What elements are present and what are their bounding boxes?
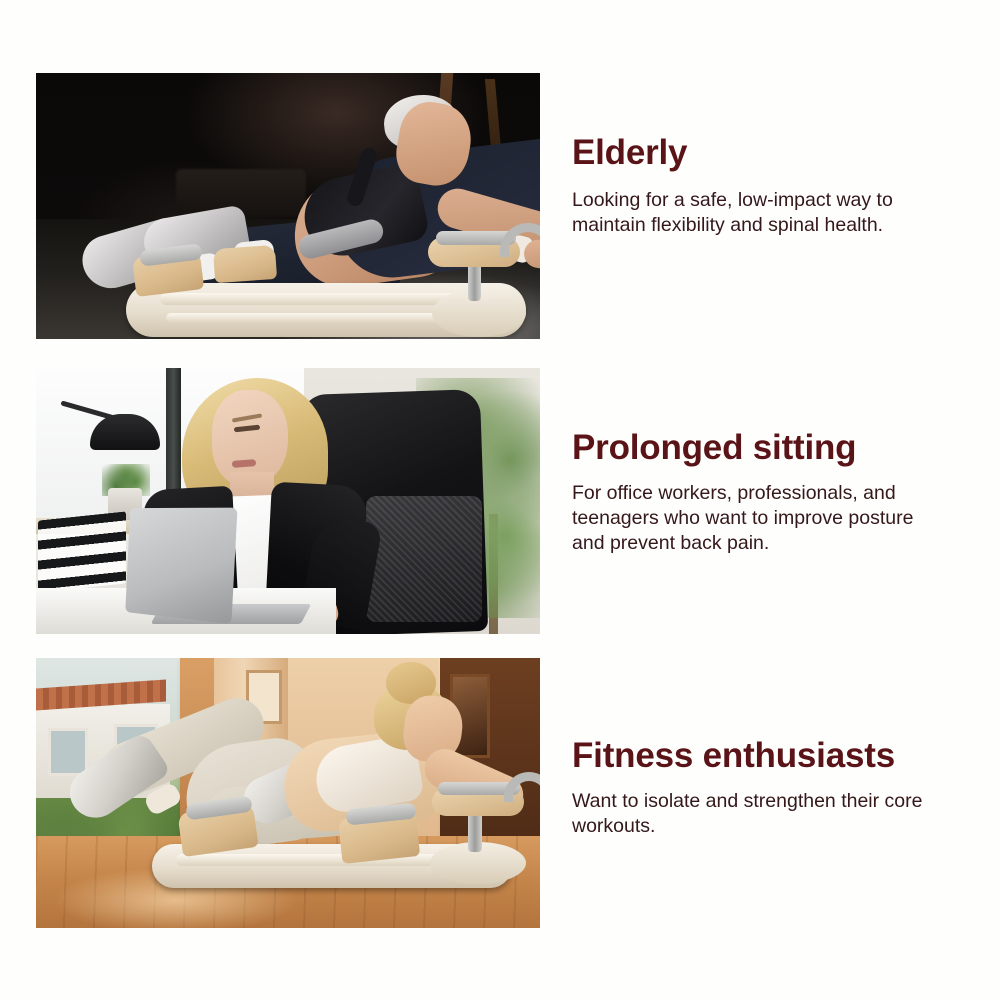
elderly-heading: Elderly xyxy=(572,135,972,172)
feature-row-fitness-enthusiasts: Fitness enthusiasts Want to isolate and … xyxy=(0,658,1000,928)
prolonged-sitting-copy-block: Prolonged sitting For office workers, pr… xyxy=(572,430,972,556)
photo-scene xyxy=(36,73,540,339)
photo-scene xyxy=(36,368,540,634)
fitness-enthusiasts-copy-block: Fitness enthusiasts Want to isolate and … xyxy=(572,738,972,839)
core-trainer-machine xyxy=(146,786,540,896)
machine-inner-rail xyxy=(160,293,480,305)
laptop-screen-lid xyxy=(125,508,237,625)
prolonged-sitting-body-text: For office workers, professionals, and t… xyxy=(572,481,944,556)
elderly-copy-block: Elderly Looking for a safe, low-impact w… xyxy=(572,135,972,238)
machine-knee-pad-right xyxy=(213,245,277,283)
desk-document-tray xyxy=(38,511,126,592)
feature-row-prolonged-sitting: Prolonged sitting For office workers, pr… xyxy=(0,368,1000,634)
fitness-enthusiasts-heading: Fitness enthusiasts xyxy=(572,738,972,775)
office-worker-with-back-pain-image xyxy=(36,368,540,634)
feature-row-elderly: Elderly Looking for a safe, low-impact w… xyxy=(0,73,1000,339)
fitness-enthusiasts-body-text: Want to isolate and strengthen their cor… xyxy=(572,789,940,839)
outdoor-window-left xyxy=(48,728,88,776)
product-feature-infographic: Elderly Looking for a safe, low-impact w… xyxy=(0,0,1000,1000)
office-chair-mesh-panel xyxy=(366,496,482,622)
photo-scene xyxy=(36,658,540,928)
machine-center-post xyxy=(468,810,482,852)
core-trainer-machine xyxy=(106,245,536,339)
elderly-body-text: Looking for a safe, low-impact way to ma… xyxy=(572,188,964,238)
prolonged-sitting-heading: Prolonged sitting xyxy=(572,430,972,467)
elderly-woman-using-core-trainer-image xyxy=(36,73,540,339)
machine-inner-rail-2 xyxy=(166,313,466,323)
fitness-woman-using-core-trainer-image xyxy=(36,658,540,928)
